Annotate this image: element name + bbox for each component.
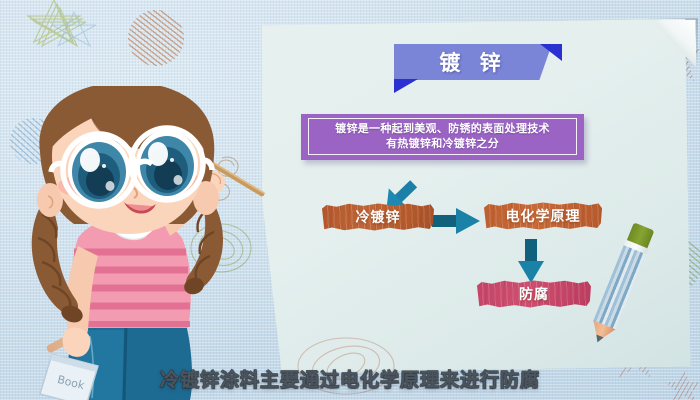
slide-canvas: 镀 锌 镀锌是一种起到美观、防锈的表面处理技术 有热镀锌和冷镀锌之分 (0, 0, 700, 400)
scribble-star-top-left (14, 0, 124, 64)
mascot-girl: Book (0, 86, 274, 400)
eye-right (136, 130, 198, 198)
title-banner: 镀 锌 (394, 44, 552, 80)
flow-node-electrochemical-principle: 电化学原理 (484, 201, 602, 231)
arrow-principle-to-anticorrosion (518, 239, 544, 283)
caption-text: 冷镀锌涂料主要通过电化学原理来进行防腐 (0, 365, 700, 392)
description-box: 镀锌是一种起到美观、防锈的表面处理技术 有热镀锌和冷镀锌之分 (301, 114, 584, 160)
description-inner-border: 镀锌是一种起到美观、防锈的表面处理技术 有热镀锌和冷镀锌之分 (308, 118, 577, 155)
flow-node-label: 冷镀锌 (356, 207, 401, 227)
page-title: 镀 锌 (394, 44, 552, 80)
flow-node-label: 防腐 (519, 284, 549, 304)
flow-node-anticorrosion: 防腐 (477, 279, 591, 309)
hatched-circle-orange (128, 10, 184, 66)
flow-node-cold-galvanizing: 冷镀锌 (322, 202, 434, 232)
flow-node-label: 电化学原理 (506, 206, 581, 226)
eye-left (68, 136, 130, 204)
description-line-1: 镀锌是一种起到美观、防锈的表面处理技术 (335, 122, 550, 136)
description-line-2: 有热镀锌和冷镀锌之分 (386, 137, 499, 151)
arrow-cold-to-principle (432, 208, 480, 234)
